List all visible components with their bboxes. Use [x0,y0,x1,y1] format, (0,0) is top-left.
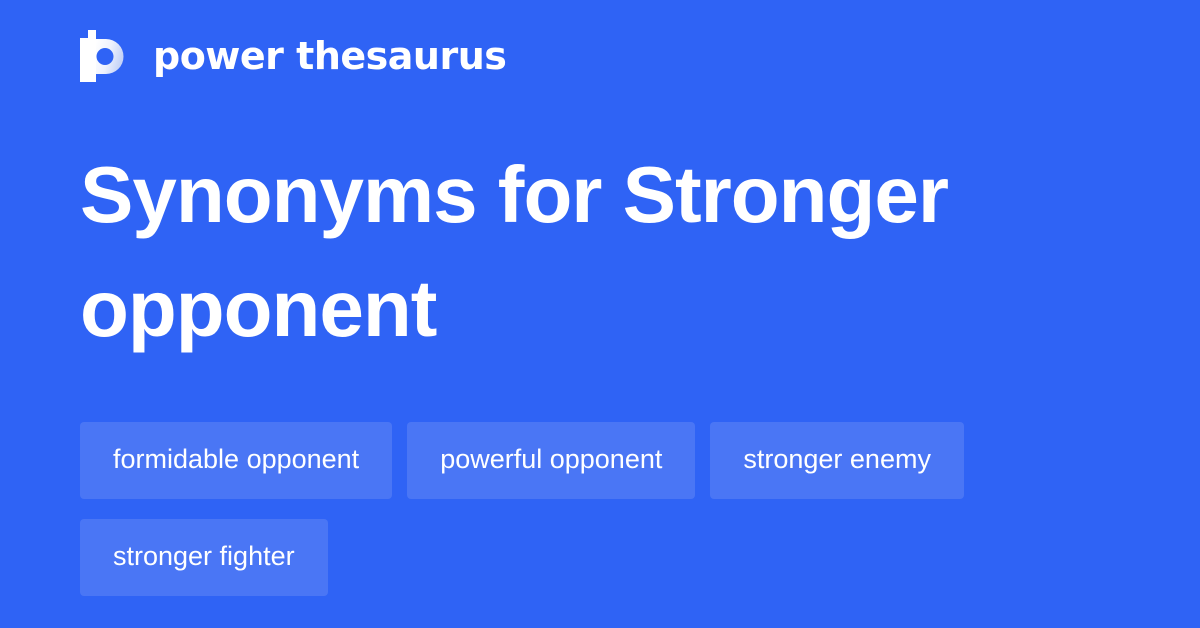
synonym-chip[interactable]: stronger fighter [80,519,328,596]
synonym-chip-list: formidable opponent powerful opponent st… [80,422,1120,596]
brand-lockup[interactable]: power thesaurus [80,26,506,86]
page-title: Synonyms for Stronger opponent [80,138,1080,366]
synonym-chip[interactable]: formidable opponent [80,422,392,499]
synonym-chip[interactable]: powerful opponent [407,422,695,499]
power-thesaurus-b-logo-icon [80,30,126,82]
synonym-chip[interactable]: stronger enemy [710,422,964,499]
brand-name: power thesaurus [153,37,506,75]
share-card: power thesaurus Synonyms for Stronger op… [0,0,1200,628]
